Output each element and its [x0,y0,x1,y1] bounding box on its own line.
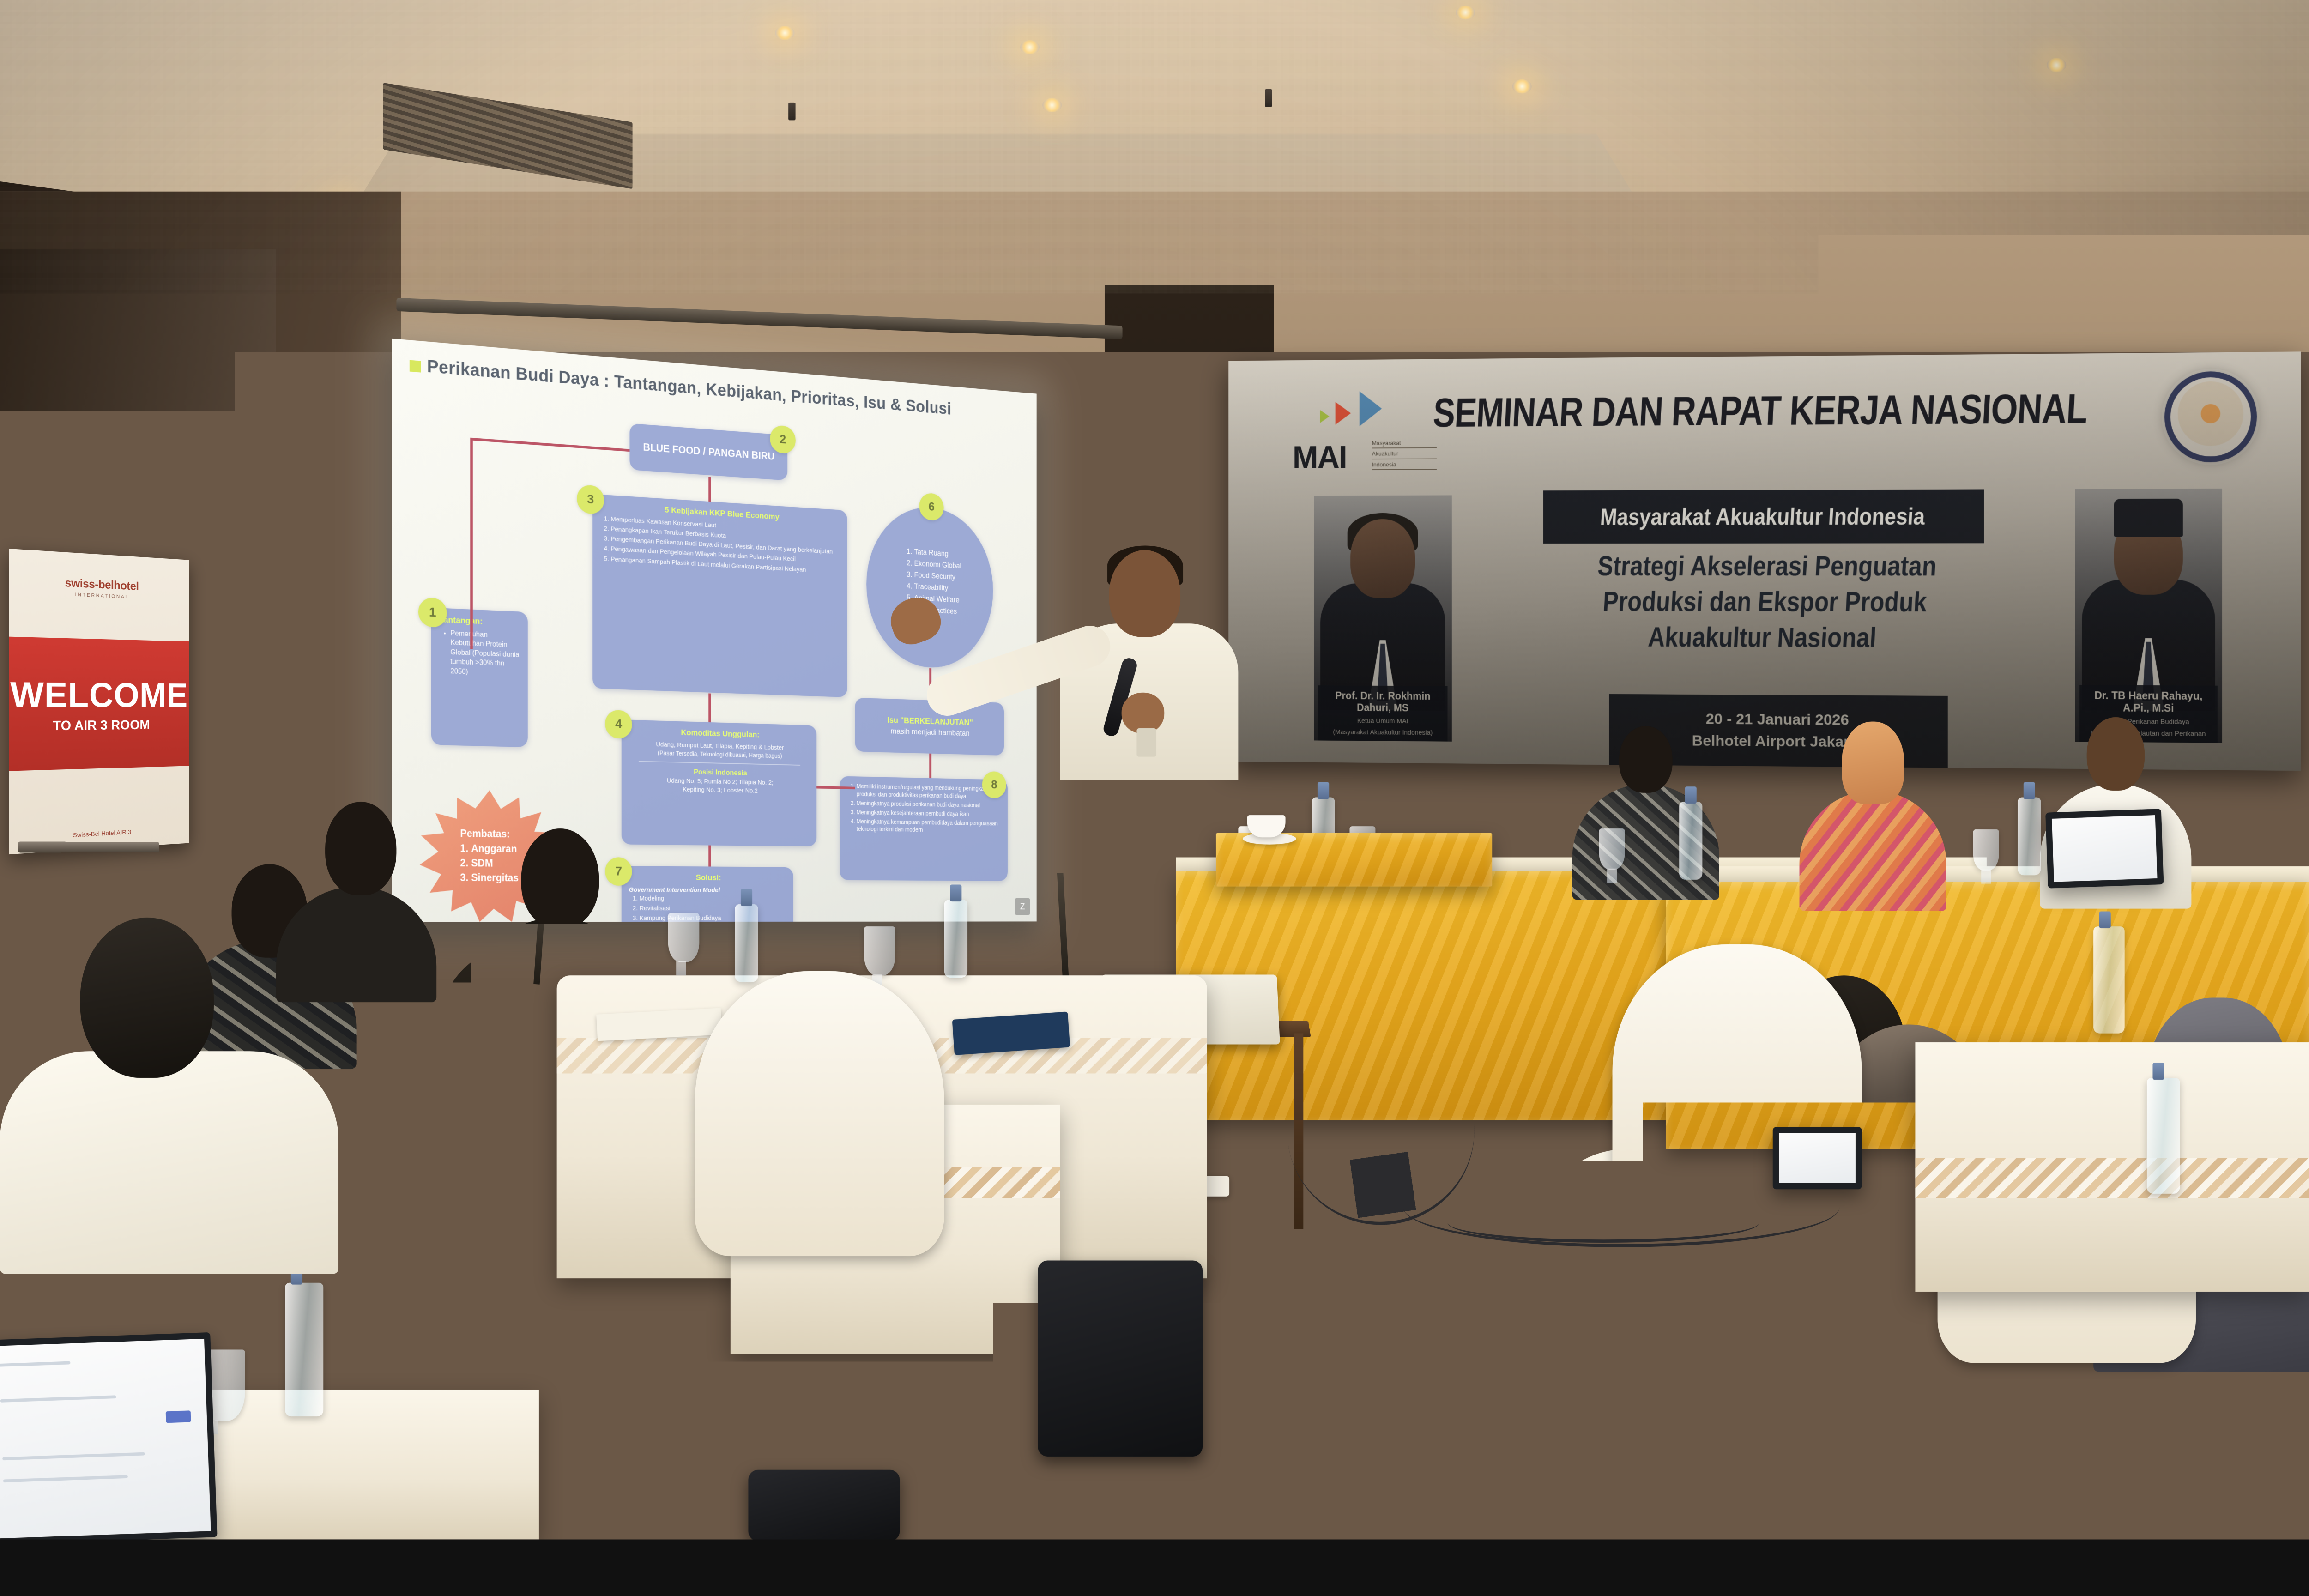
ceiling-downlight [2047,58,2066,72]
table-runner [1915,1158,2309,1198]
water-bottle [2018,797,2041,875]
slide-box-blue-food: BLUE FOOD / PANGAN BIRU [629,423,787,481]
water-bottle [2093,926,2125,1033]
drinking-glass [1599,828,1625,870]
slide-arrow [470,438,629,452]
foreground-laptop[interactable] [0,1332,218,1539]
slide-arrow [708,477,711,502]
drinking-glass [864,926,895,975]
slide-title-bullet-icon [410,360,421,373]
rollup-base [18,841,159,852]
panelist-laptop[interactable] [2045,809,2164,889]
sprinkler-head-icon [788,103,795,121]
ceiling-downlight [775,26,794,40]
hotel-name: swiss-belhotel [65,576,139,593]
sprinkler-head-icon [1265,89,1272,107]
slide-box-kebijakan: 5 Kebijakan KKP Blue Economy Memperluas … [592,494,847,697]
water-bottle [1679,802,1702,880]
slide-box-tantangan: Tantangan: Pemenuhan Kebutuhan Protein G… [431,608,528,748]
welcome-rollup-banner: swiss-belhotel INTERNATIONAL WELCOME TO … [9,549,189,854]
laptop-bag [748,1470,900,1539]
audience-laptop[interactable] [1773,1127,1862,1189]
panelist-hijab [1800,704,1946,900]
slide-arrow [708,693,711,722]
slide-arrow [816,786,855,789]
coffee-cup [1247,815,1286,837]
water-bottle [944,900,967,978]
room-name-text: TO AIR 3 ROOM [53,718,150,734]
ceiling-downlight [1020,40,1040,54]
slide-list-item: Pemenuhan Kebutuhan Protein Global (Popu… [450,629,520,679]
laptop-ui-button[interactable] [166,1410,191,1423]
name-badge [1136,728,1156,757]
drinking-glass [1973,829,1999,871]
ceiling-downlight [1512,79,1531,94]
slide-badge-3: 3 [577,484,604,515]
slide-badge-1: 1 [418,597,447,628]
water-bottle [2147,1078,2180,1194]
banquet-chair[interactable] [695,971,944,1256]
seminar-room-photo: Perikanan Budi Daya : Tantangan, Kebijak… [0,0,2309,1539]
laptop-bag [1038,1261,1203,1457]
drinking-glass [1724,1154,1759,1211]
slide-arrow [470,438,473,649]
banquet-chair[interactable] [312,1194,597,1539]
hotel-subtitle: INTERNATIONAL [65,592,139,600]
rollup-footer: Swiss-Bel Hotel AIR 3 [9,825,189,843]
slide-arrow [929,754,931,778]
hotel-logo: swiss-belhotel INTERNATIONAL [65,576,139,600]
ceiling-downlight [1042,98,1062,112]
ceiling-downlight [1456,6,1475,20]
welcome-text: WELCOME [10,673,188,715]
eyeglasses-icon [1657,1203,1692,1228]
audience-table-right [1559,1229,1791,1539]
slide-badge-4: 4 [605,710,632,739]
smartphone[interactable] [1617,1261,1665,1345]
slide-box-komoditas: Komoditas Unggulan: Udang, Rumput Laut, … [622,719,817,846]
welcome-band: WELCOME TO AIR 3 ROOM [9,637,189,771]
laptop-bag [2120,1416,2307,1539]
eyeglasses-icon [1688,1203,1723,1228]
